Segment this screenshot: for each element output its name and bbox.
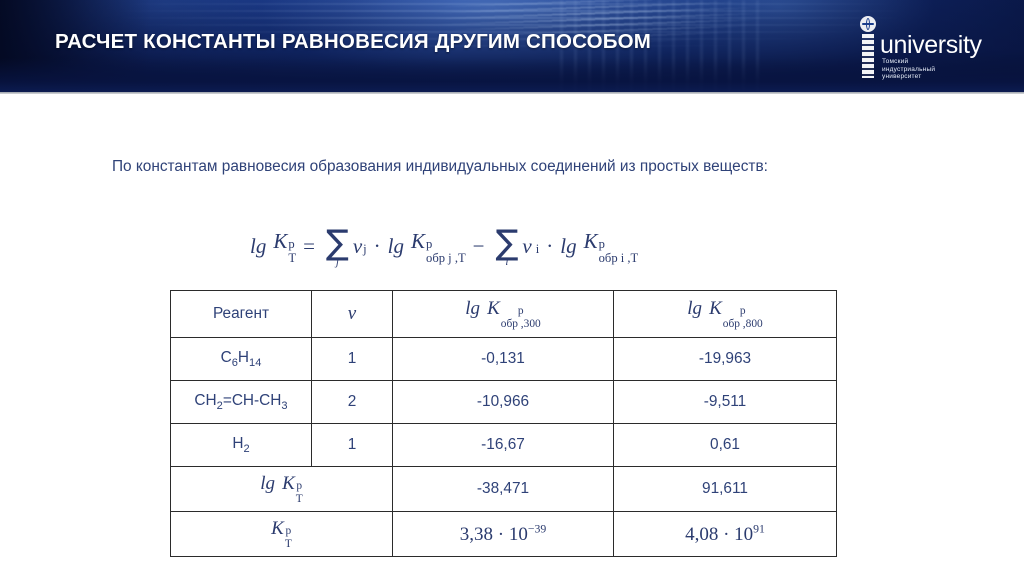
summary-lgK-v800: 91,611	[614, 467, 837, 512]
table-header-row: Реагент ν lg K р обр ,300	[171, 291, 837, 338]
reagent-formula: C6H14	[221, 349, 262, 366]
summary-lgK-sup: р	[296, 481, 303, 492]
cell-v300: -0,131	[393, 338, 614, 381]
summary-K-300-exponent: −39	[528, 522, 546, 535]
sigma-symbol-2: ∑	[496, 230, 519, 258]
reagent-formula: H2	[232, 435, 249, 452]
lgK-300-value: -10,966	[477, 393, 529, 410]
formula-K-1-letter: K	[411, 229, 425, 254]
logo-bar-mark	[862, 34, 874, 78]
header-cell-lgK-300: lg K р обр ,300	[393, 291, 614, 338]
header-800-K: K	[709, 298, 722, 320]
nu-value: 2	[348, 393, 357, 410]
summary-lgK-K: K	[282, 473, 295, 495]
university-logo: university Томский индустриальный универ…	[846, 16, 996, 78]
header-300-sup: р	[501, 306, 541, 317]
summation-i-icon: ∑ i	[496, 230, 519, 268]
formula-minus: −	[473, 234, 485, 259]
lgK-300-value: -0,131	[481, 350, 525, 367]
formula-K-lhs-letter: K	[273, 229, 287, 254]
reagent-formula: CH2=CH-CH3	[194, 392, 287, 409]
cell-nu: 1	[312, 424, 393, 467]
cell-v800: -19,963	[614, 338, 837, 381]
main-formula: lg K р T = ∑ j ν j · lg K р обр j ,T − ∑…	[250, 228, 638, 266]
formula-nu-1: ν	[353, 234, 362, 259]
summary-label-K: K р T	[171, 512, 393, 557]
summary-K-800-exponent: 91	[753, 522, 765, 535]
lgK-800-value: -9,511	[704, 393, 747, 410]
header-300-K: K	[487, 298, 500, 320]
summary-lgK-800-value: 91,611	[702, 480, 748, 497]
formula-nu-1-sub: j	[363, 243, 367, 256]
header-800-lg: lg	[687, 298, 702, 320]
table-row: H2 1 -16,67 0,61	[171, 424, 837, 467]
formula-K-2-letter: K	[584, 229, 598, 254]
lgK-800-value: -19,963	[699, 350, 751, 367]
logo-subtitle: Томский индустриальный университет	[882, 58, 935, 81]
formula-lg-1: lg	[388, 234, 404, 259]
formula-K-1-sup: р	[426, 238, 466, 251]
header-800-sup: р	[723, 306, 763, 317]
summary-label-lgK: lg K р T	[171, 467, 393, 512]
cell-v300: -10,966	[393, 381, 614, 424]
summary-K-sub: T	[285, 539, 292, 550]
cell-reagent: C6H14	[171, 338, 312, 381]
logo-subtitle-line1: Томский	[882, 58, 935, 66]
formula-nu-j: ν j	[353, 234, 367, 259]
formula-K-2-sup: р	[599, 238, 639, 251]
formula-lg-2: lg	[560, 234, 576, 259]
lgK-800-value: 0,61	[710, 436, 740, 453]
formula-K-lhs-sub: T	[288, 252, 296, 265]
formula-K-lhs-sup: р	[288, 238, 296, 251]
formula-lg-lhs: lg	[250, 234, 266, 259]
header-300-sub: обр ,300	[501, 319, 541, 330]
sigma-index-1: j	[336, 257, 339, 268]
formula-nu-i: ν i	[522, 234, 539, 259]
cell-nu: 1	[312, 338, 393, 381]
table-row: C6H14 1 -0,131 -19,963	[171, 338, 837, 381]
formula-equals: =	[303, 234, 315, 259]
summary-K-800-mantissa: 4,08 · 10	[685, 524, 753, 545]
header-cell-reagent: Реагент	[171, 291, 312, 338]
summary-K-K: K	[271, 518, 284, 540]
header-cell-nu: ν	[312, 291, 393, 338]
cell-v300: -16,67	[393, 424, 614, 467]
summation-j-icon: ∑ j	[326, 230, 349, 268]
summary-K-300-mantissa: 3,38 · 10	[460, 524, 528, 545]
summary-lgK-300-value: -38,471	[477, 480, 529, 497]
formula-nu-2: ν	[522, 234, 531, 259]
summary-K-sup: р	[285, 526, 292, 537]
nu-value: 1	[348, 350, 357, 367]
summary-lgK-sub: T	[296, 494, 303, 505]
table-summary-row-K: K р T 3,38 · 10−39 4,08 · 1091	[171, 512, 837, 557]
formula-dot-1: ·	[374, 234, 381, 259]
cell-reagent: H2	[171, 424, 312, 467]
sigma-symbol-1: ∑	[326, 230, 349, 258]
globe-icon	[860, 16, 876, 32]
equilibrium-constants-table: Реагент ν lg K р обр ,300	[170, 290, 837, 557]
formula-K-obr-j: K р обр j ,T	[411, 229, 466, 265]
formula-dot-2: ·	[546, 234, 553, 259]
summary-K-v800: 4,08 · 1091	[614, 512, 837, 557]
table-summary-row-lgK: lg K р T -38,471 91,611	[171, 467, 837, 512]
intro-text: По константам равновесия образования инд…	[112, 158, 768, 176]
header-cell-lgK-800: lg K р обр ,800	[614, 291, 837, 338]
lgK-300-value: -16,67	[481, 436, 525, 453]
cell-nu: 2	[312, 381, 393, 424]
formula-K-lhs: K р T	[273, 229, 296, 265]
cell-reagent: CH2=CH-CH3	[171, 381, 312, 424]
cell-v800: -9,511	[614, 381, 837, 424]
summary-lgK-v300: -38,471	[393, 467, 614, 512]
formula-K-obr-i: K р обр i ,T	[584, 229, 639, 265]
nu-value: 1	[348, 436, 357, 453]
summary-lgK-lg: lg	[260, 473, 275, 495]
banner-divider	[0, 92, 1024, 94]
logo-wordmark: university	[880, 33, 982, 58]
header-nu-label: ν	[348, 303, 356, 324]
logo-subtitle-line3: университет	[882, 73, 935, 81]
formula-K-2-sub: обр i ,T	[599, 252, 639, 265]
summary-K-v300: 3,38 · 10−39	[393, 512, 614, 557]
header-reagent-label: Реагент	[213, 305, 269, 322]
sigma-index-2: i	[505, 257, 508, 268]
page-title: РАСЧЕТ КОНСТАНТЫ РАВНОВЕСИЯ ДРУГИМ СПОСО…	[55, 30, 651, 54]
formula-K-1-sub: обр j ,T	[426, 252, 466, 265]
formula-nu-2-sub: i	[536, 243, 540, 256]
table-row: CH2=CH-CH3 2 -10,966 -9,511	[171, 381, 837, 424]
header-banner: РАСЧЕТ КОНСТАНТЫ РАВНОВЕСИЯ ДРУГИМ СПОСО…	[0, 0, 1024, 92]
header-300-lg: lg	[465, 298, 480, 320]
header-800-sub: обр ,800	[723, 319, 763, 330]
logo-subtitle-line2: индустриальный	[882, 66, 935, 74]
cell-v800: 0,61	[614, 424, 837, 467]
